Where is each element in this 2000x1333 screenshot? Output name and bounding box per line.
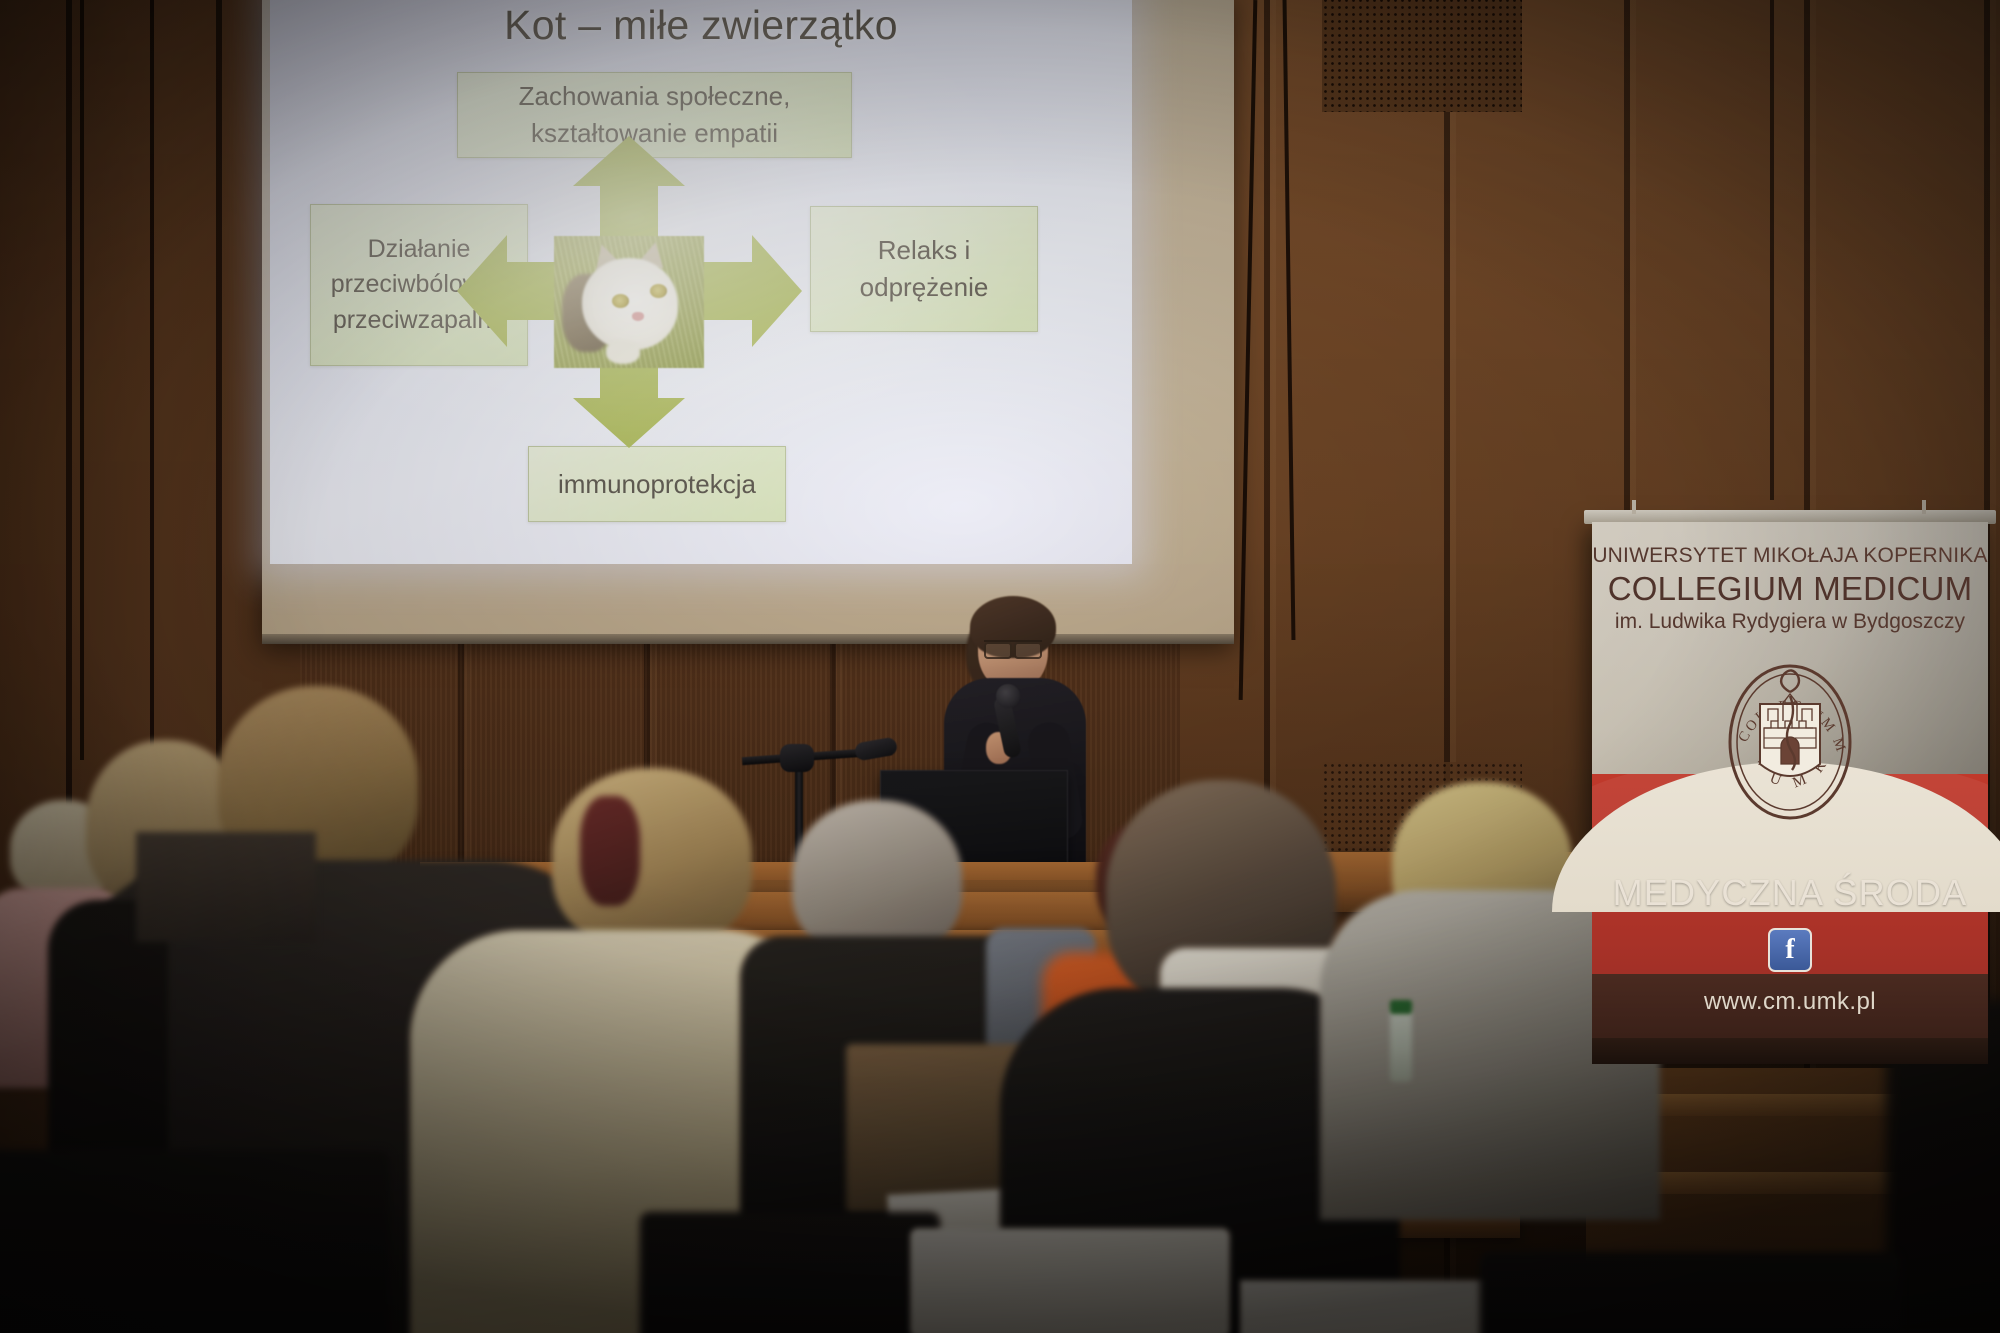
folder-foreground <box>910 1228 1230 1333</box>
cat-paw <box>606 340 640 364</box>
chair-back-2 <box>640 1212 940 1333</box>
slide-box-bottom: immunoprotekcja <box>528 446 786 522</box>
presentation-slide: Kot – miłe zwierzątko Zachowania społecz… <box>270 0 1132 564</box>
roll-up-banner: UNIWERSYTET MIKOŁAJA KOPERNIKA COLLEGIUM… <box>1592 522 1988 1064</box>
glasses-lens-right <box>1014 642 1042 659</box>
lecture-hall-photo: Kot – miłe zwierzątko Zachowania społecz… <box>0 0 2000 1333</box>
audience-plaid-collar <box>136 832 316 942</box>
cat-nose <box>632 312 644 321</box>
banner-bottom-strip <box>1592 1038 1988 1064</box>
chair-back-3 <box>1480 1252 1900 1333</box>
acoustic-grille-icon <box>1322 0 1522 112</box>
collegium-medicum-seal-icon: COLLEGIUM MEDICUM * U M K * <box>1716 652 1864 832</box>
speaker-glasses-icon <box>984 640 1042 655</box>
water-bottle <box>1390 1008 1412 1082</box>
left-wall-cable-2 <box>150 0 154 800</box>
slide-title: Kot – miłe zwierzątko <box>270 2 1132 49</box>
bottle-cap <box>1390 1000 1412 1014</box>
banner-collegium-medicum: COLLEGIUM MEDICUM <box>1592 570 1988 608</box>
arrow-right-icon <box>698 262 754 320</box>
cat-eye-right <box>650 284 667 298</box>
cat-photo <box>554 236 704 368</box>
paper-foreground-2 <box>1240 1280 1500 1333</box>
projection-screen: Kot – miłe zwierzątko Zachowania społecz… <box>262 0 1234 652</box>
audience-head-5 <box>792 800 962 958</box>
banner-patron-line: im. Ludwika Rydygiera w Bydgoszczy <box>1592 610 1988 634</box>
facebook-icon: f <box>1768 928 1812 972</box>
cat-eye-left <box>612 294 629 308</box>
microphone-head-icon <box>996 684 1020 708</box>
right-wall-cable <box>1770 0 1774 500</box>
banner-hook-right <box>1922 500 1926 514</box>
banner-university-name: UNIWERSYTET MIKOŁAJA KOPERNIKA <box>1592 544 1988 568</box>
cat-head <box>582 258 678 350</box>
banner-event-title: MEDYCZNA ŚRODA <box>1592 872 1988 914</box>
microphone-stand-knob <box>780 744 814 772</box>
banner-hook-left <box>1632 500 1636 514</box>
banner-website-url: www.cm.umk.pl <box>1592 988 1988 1016</box>
left-wall-cable <box>80 0 84 760</box>
arrow-up-icon <box>600 182 658 238</box>
arrow-left-icon <box>505 262 561 320</box>
glasses-lens-left <box>984 642 1012 659</box>
audience-hair-reddish <box>580 796 640 906</box>
slide-box-right: Relaks i odprężenie <box>810 206 1038 332</box>
chair-back-1 <box>0 1150 390 1333</box>
